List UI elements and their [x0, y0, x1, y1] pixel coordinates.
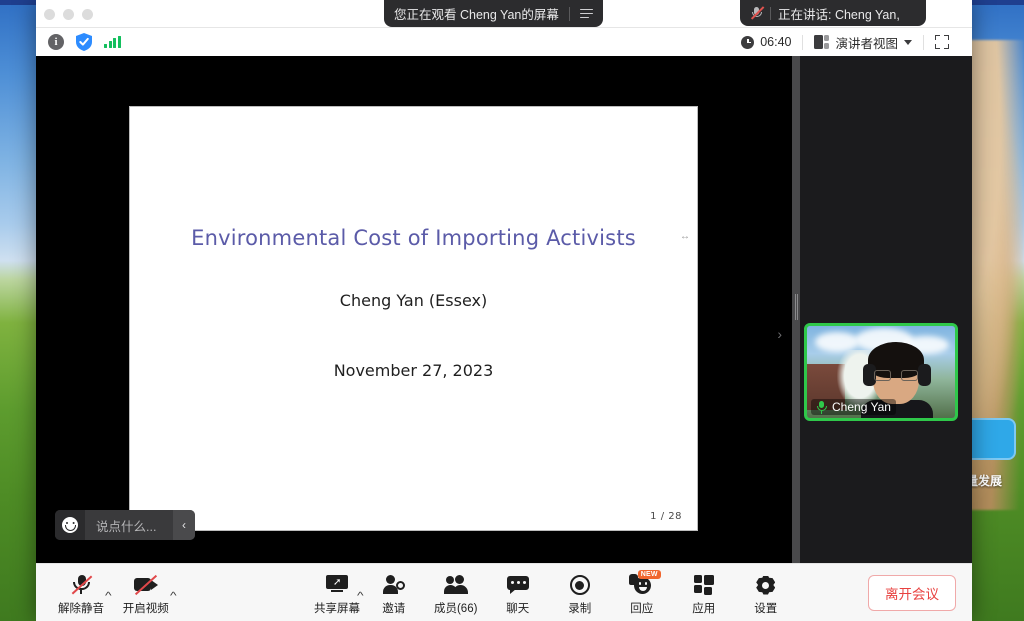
toolbar-item-video[interactable]: 开启视频 [115, 569, 177, 616]
reactions-icon: NEW [629, 573, 655, 597]
toolbar-item-mute[interactable]: 解除静音 [50, 569, 112, 616]
slide-title: Environmental Cost of Importing Activist… [130, 226, 697, 250]
slide-date: November 27, 2023 [130, 361, 697, 380]
participant-name-badge: Cheng Yan [811, 399, 896, 415]
toolbar-label-mute: 解除静音 [58, 600, 104, 616]
chevron-left-icon[interactable]: ‹ [173, 510, 195, 540]
viewing-screen-banner: 您正在观看 Cheng Yan的屏幕 [384, 0, 603, 27]
apps-grid-icon [694, 573, 714, 597]
zoom-meeting-window: 您正在观看 Cheng Yan的屏幕 正在讲话: Cheng Yan, i [36, 0, 972, 621]
chat-input[interactable]: 说点什么... [85, 516, 173, 535]
close-button[interactable] [44, 9, 55, 20]
quick-chat-bar[interactable]: 说点什么... ‹ [55, 510, 195, 540]
new-badge: NEW [638, 570, 661, 579]
panel-splitter[interactable] [792, 56, 800, 563]
viewing-screen-text: 您正在观看 Cheng Yan的屏幕 [394, 4, 559, 23]
share-screen-icon: ➚ [325, 573, 349, 597]
view-mode-selector[interactable]: 演讲者视图 [803, 33, 923, 52]
participant-name: Cheng Yan [832, 400, 891, 414]
shield-check-icon[interactable] [76, 33, 92, 51]
fullscreen-button[interactable] [924, 35, 960, 49]
toolbar-item-invite[interactable]: 邀请 [363, 569, 425, 616]
mic-muted-icon [750, 6, 763, 20]
view-mode-label: 演讲者视图 [835, 33, 898, 52]
slide-author: Cheng Yan (Essex) [130, 291, 697, 310]
speaking-banner-text: 正在讲话: Cheng Yan, [778, 4, 900, 23]
toolbar-label-chat: 聊天 [506, 600, 529, 616]
panel-collapse-arrow[interactable]: › [777, 326, 782, 342]
mic-on-icon [816, 401, 827, 414]
toolbar-item-settings[interactable]: 设置 [735, 569, 797, 616]
chat-icon [507, 573, 529, 597]
toolbar-label-apps: 应用 [692, 600, 715, 616]
video-panel: Cheng Yan [800, 56, 972, 563]
minimize-button[interactable] [63, 9, 74, 20]
shared-screen-area: Environmental Cost of Importing Activist… [36, 56, 792, 563]
toolbar-item-record[interactable]: 录制 [549, 569, 611, 616]
speaking-banner: 正在讲话: Cheng Yan, [740, 0, 926, 26]
toolbar-label-participants: 成员(66) [434, 600, 477, 616]
toolbar-item-apps[interactable]: 应用 [673, 569, 735, 616]
speaker-view-icon [814, 35, 829, 49]
meeting-toolbar: 解除静音 ^ 开启视频 ^ ➚ 共享屏幕 ^ [36, 563, 972, 621]
meeting-info-bar: i 06:40 [36, 28, 972, 56]
toolbar-label-settings: 设置 [754, 600, 777, 616]
mic-muted-icon [71, 573, 91, 597]
toolbar-label-video: 开启视频 [123, 600, 169, 616]
toolbar-label-share: 共享屏幕 [314, 600, 360, 616]
hamburger-icon[interactable] [580, 9, 593, 19]
clock-icon [741, 36, 754, 49]
toolbar-item-chat[interactable]: 聊天 [487, 569, 549, 616]
invite-icon [383, 573, 405, 597]
chevron-down-icon [904, 40, 912, 45]
people-icon [444, 573, 468, 597]
elapsed-time-group: 06:40 [730, 35, 802, 49]
toolbar-label-invite: 邀请 [382, 600, 405, 616]
resize-handle-icon[interactable]: ↔ [680, 231, 689, 242]
video-tile-cheng-yan[interactable]: Cheng Yan [804, 323, 958, 421]
leave-meeting-button[interactable]: 离开会议 [868, 575, 956, 611]
window-controls[interactable] [44, 9, 93, 20]
toolbar-item-participants[interactable]: 成员(66) [425, 569, 487, 616]
toolbar-item-reactions[interactable]: NEW 回应 [611, 569, 673, 616]
smiley-icon[interactable] [55, 510, 85, 540]
presentation-slide: Environmental Cost of Importing Activist… [129, 106, 698, 531]
camera-muted-icon [134, 573, 158, 597]
divider [569, 7, 570, 21]
info-icon[interactable]: i [48, 34, 64, 50]
meeting-stage: Environmental Cost of Importing Activist… [36, 56, 972, 563]
maximize-button[interactable] [82, 9, 93, 20]
elapsed-time: 06:40 [760, 35, 791, 49]
divider [770, 7, 771, 20]
toolbar-label-reactions: 回应 [630, 600, 653, 616]
gear-icon [755, 573, 776, 597]
slide-page-indicator: 1 / 28 [650, 511, 682, 522]
audio-options-caret[interactable]: ^ [105, 591, 112, 602]
video-options-caret[interactable]: ^ [170, 591, 177, 602]
desktop-background: 高质量发展 您正在观看 Cheng Yan的屏幕 正在讲话: Cheng Yan… [0, 0, 1024, 621]
fullscreen-icon [935, 35, 949, 49]
record-icon [570, 573, 590, 597]
signal-bars-icon[interactable] [104, 36, 121, 48]
toolbar-label-record: 录制 [568, 600, 591, 616]
